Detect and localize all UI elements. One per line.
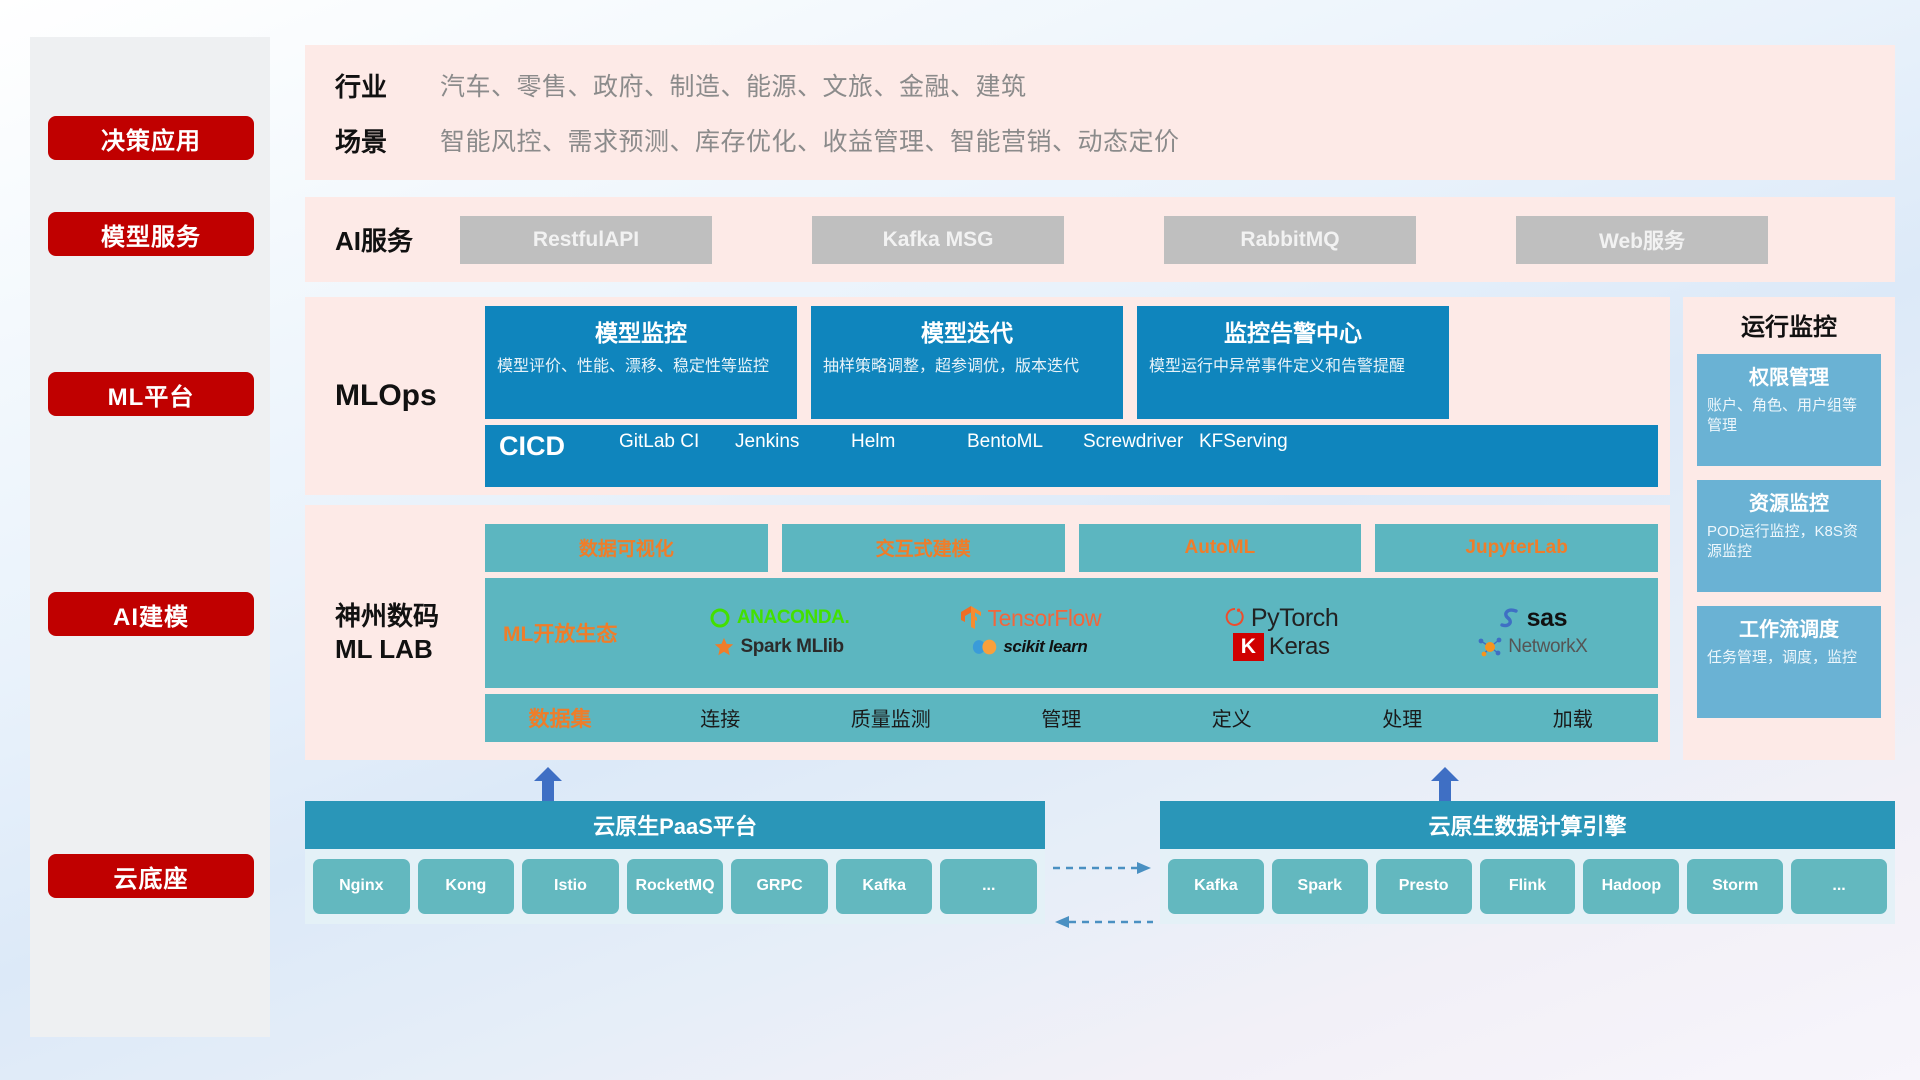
spark-mllib-logo-text: Spark MLlib <box>740 636 843 658</box>
sas-logo-text: sas <box>1527 604 1568 633</box>
cloud-native-data-engine-group: 云原生数据计算引擎 Kafka Spark Presto Flink Hadoo… <box>1160 801 1895 924</box>
layer-chip-label: 云底座 <box>114 859 189 894</box>
card-title: 监控告警中心 <box>1149 314 1437 348</box>
layer-chip-decision-apps[interactable]: 决策应用 <box>48 116 254 160</box>
data-chip-kafka[interactable]: Kafka <box>1168 859 1264 914</box>
dataset-item-processing[interactable]: 处理 <box>1317 703 1488 732</box>
cloud-base-section: 云原生PaaS平台 Nginx Kong Istio RocketMQ GRPC… <box>305 775 1895 935</box>
dataset-row: 数据集 连接 质量监测 管理 定义 处理 加载 <box>485 694 1658 742</box>
ai-service-band: AI服务 RestfulAPI Kafka MSG RabbitMQ Web服务 <box>305 197 1895 282</box>
layer-chip-label: ML平台 <box>108 377 195 412</box>
dataset-label: 数据集 <box>485 703 635 733</box>
layer-chip-label: AI建模 <box>113 597 189 632</box>
mlops-card-model-iteration[interactable]: 模型迭代 抽样策略调整，超参调优，版本迭代 <box>811 306 1123 419</box>
paas-chip-kong[interactable]: Kong <box>418 859 515 914</box>
service-box-rabbitmq[interactable]: RabbitMQ <box>1164 216 1416 264</box>
layer-chip-label: 模型服务 <box>101 217 201 252</box>
paas-chip-rocketmq[interactable]: RocketMQ <box>627 859 724 914</box>
card-desc: 抽样策略调整，超参调优，版本迭代 <box>823 356 1111 377</box>
dataset-item-connect[interactable]: 连接 <box>635 703 806 732</box>
lab-tab-automl[interactable]: AutoML <box>1079 524 1362 572</box>
scenario-label: 场景 <box>335 122 440 159</box>
runtime-monitoring-title: 运行监控 <box>1697 307 1881 342</box>
decision-apps-band: 行业 汽车、零售、政府、制造、能源、文旅、金融、建筑 场景 智能风控、需求预测、… <box>305 45 1895 180</box>
scikit-learn-logo: scikit learn <box>972 635 1087 659</box>
data-chip-hadoop[interactable]: Hadoop <box>1583 859 1679 914</box>
networkx-logo-text: NetworkX <box>1508 636 1587 658</box>
scenario-row: 场景 智能风控、需求预测、库存优化、收益管理、智能营销、动态定价 <box>335 122 1895 159</box>
layer-chip-cloud-base[interactable]: 云底座 <box>48 854 254 898</box>
ml-open-ecosystem-label: ML开放生态 <box>503 618 653 648</box>
industry-value: 汽车、零售、政府、制造、能源、文旅、金融、建筑 <box>440 67 1027 103</box>
dataset-item-quality-monitoring[interactable]: 质量监测 <box>806 703 977 732</box>
layer-chip-model-service[interactable]: 模型服务 <box>48 212 254 256</box>
pytorch-logo: PyTorch <box>1224 604 1339 633</box>
ml-lab-label: 神州数码 ML LAB <box>335 600 485 665</box>
cloud-native-data-engine-title: 云原生数据计算引擎 <box>1160 801 1895 849</box>
ml-open-ecosystem-row: ML开放生态 ANACONDA. <box>485 578 1658 688</box>
mlops-band: MLOps 模型监控 模型评价、性能、漂移、稳定性等监控 模型迭代 抽样策略调整… <box>305 297 1670 495</box>
card-title: 模型迭代 <box>823 314 1111 348</box>
data-chip-presto[interactable]: Presto <box>1376 859 1472 914</box>
keras-logo-text: Keras <box>1269 633 1330 661</box>
layer-chip-label: 决策应用 <box>101 121 201 156</box>
pytorch-logo-text: PyTorch <box>1251 604 1339 633</box>
mlops-label: MLOps <box>335 379 485 413</box>
service-box-restfulapi[interactable]: RestfulAPI <box>460 216 712 264</box>
mlops-card-model-monitoring[interactable]: 模型监控 模型评价、性能、漂移、稳定性等监控 <box>485 306 797 419</box>
networkx-logo: NetworkX <box>1477 635 1587 659</box>
monitor-card-permission-management[interactable]: 权限管理 账户、角色、用户组等管理 <box>1697 354 1881 466</box>
card-desc: 任务管理，调度，监控 <box>1707 648 1871 668</box>
industry-label: 行业 <box>335 67 440 104</box>
card-desc: 模型评价、性能、漂移、稳定性等监控 <box>497 356 785 377</box>
lab-tab-data-visualization[interactable]: 数据可视化 <box>485 524 768 572</box>
scenario-value: 智能风控、需求预测、库存优化、收益管理、智能营销、动态定价 <box>440 122 1180 158</box>
industry-row: 行业 汽车、零售、政府、制造、能源、文旅、金融、建筑 <box>335 67 1895 104</box>
lab-tab-interactive-modeling[interactable]: 交互式建模 <box>782 524 1065 572</box>
cicd-item-kfserving[interactable]: KFServing <box>1199 431 1315 453</box>
architecture-diagram: 决策应用 模型服务 ML平台 AI建模 云底座 行业 汽车、零售、政府、制造、能… <box>0 0 1920 1080</box>
runtime-monitoring-panel: 运行监控 权限管理 账户、角色、用户组等管理 资源监控 POD运行监控，K8S资… <box>1683 297 1895 760</box>
cicd-item-jenkins[interactable]: Jenkins <box>735 431 851 453</box>
dashed-arrow-right-icon <box>1053 861 1153 880</box>
dataset-item-loading[interactable]: 加载 <box>1488 703 1659 732</box>
paas-chip-more[interactable]: ... <box>940 859 1037 914</box>
card-desc: 账户、角色、用户组等管理 <box>1707 396 1871 437</box>
data-chip-spark[interactable]: Spark <box>1272 859 1368 914</box>
ai-service-label: AI服务 <box>335 221 460 258</box>
layer-chip-ai-modeling[interactable]: AI建模 <box>48 592 254 636</box>
cicd-item-screwdriver[interactable]: Screwdriver <box>1083 431 1199 453</box>
anaconda-logo-text: ANACONDA. <box>737 607 850 629</box>
cicd-item-gitlab-ci[interactable]: GitLab CI <box>619 431 735 453</box>
card-title: 权限管理 <box>1707 361 1871 390</box>
service-box-kafka-msg[interactable]: Kafka MSG <box>812 216 1064 264</box>
ml-lab-label-line2: ML LAB <box>335 633 485 666</box>
dashed-arrow-left-icon <box>1053 915 1153 934</box>
paas-chip-kafka[interactable]: Kafka <box>836 859 933 914</box>
cicd-bar: CICD GitLab CI Jenkins Helm BentoML Scre… <box>485 425 1658 487</box>
cicd-label: CICD <box>499 431 619 462</box>
data-chip-more[interactable]: ... <box>1791 859 1887 914</box>
dataset-item-management[interactable]: 管理 <box>976 703 1147 732</box>
dataset-item-definition[interactable]: 定义 <box>1147 703 1318 732</box>
up-arrow-paas-icon <box>533 767 563 801</box>
scikit-learn-logo-text: scikit learn <box>1003 637 1087 657</box>
card-desc: 模型运行中异常事件定义和告警提醒 <box>1149 356 1437 377</box>
monitor-card-workflow-scheduling[interactable]: 工作流调度 任务管理，调度，监控 <box>1697 606 1881 718</box>
ml-lab-label-line1: 神州数码 <box>335 600 485 633</box>
monitor-card-resource-monitoring[interactable]: 资源监控 POD运行监控，K8S资源监控 <box>1697 480 1881 592</box>
keras-logo: K Keras <box>1233 633 1330 661</box>
service-box-web-service[interactable]: Web服务 <box>1516 216 1768 264</box>
cloud-native-paas-title: 云原生PaaS平台 <box>305 801 1045 849</box>
tensorflow-logo: TensorFlow <box>959 605 1102 632</box>
keras-logo-mark: K <box>1233 633 1264 661</box>
anaconda-logo: ANACONDA. <box>708 606 850 630</box>
cicd-item-bentoml[interactable]: BentoML <box>967 431 1083 453</box>
lab-tab-jupyterlab[interactable]: JupyterLab <box>1375 524 1658 572</box>
ai-modeling-band: 神州数码 ML LAB 数据可视化 交互式建模 AutoML JupyterLa… <box>305 505 1670 760</box>
cicd-item-helm[interactable]: Helm <box>851 431 967 453</box>
card-title: 资源监控 <box>1707 487 1871 516</box>
card-title: 工作流调度 <box>1707 613 1871 642</box>
cloud-native-paas-group: 云原生PaaS平台 Nginx Kong Istio RocketMQ GRPC… <box>305 801 1045 924</box>
tensorflow-logo-text: TensorFlow <box>988 605 1102 632</box>
data-chip-flink[interactable]: Flink <box>1480 859 1576 914</box>
sas-logo: sas <box>1498 604 1568 633</box>
card-desc: POD运行监控，K8S资源监控 <box>1707 522 1871 563</box>
data-chip-storm[interactable]: Storm <box>1687 859 1783 914</box>
paas-chip-nginx[interactable]: Nginx <box>313 859 410 914</box>
mlops-card-alert-center[interactable]: 监控告警中心 模型运行中异常事件定义和告警提醒 <box>1137 306 1449 419</box>
up-arrow-data-engine-icon <box>1430 767 1460 801</box>
card-title: 模型监控 <box>497 314 785 348</box>
layer-rail: 决策应用 模型服务 ML平台 AI建模 云底座 <box>30 37 270 1037</box>
paas-chip-grpc[interactable]: GRPC <box>731 859 828 914</box>
paas-chip-istio[interactable]: Istio <box>522 859 619 914</box>
spark-mllib-logo: Spark MLlib <box>713 636 843 658</box>
layer-chip-ml-platform[interactable]: ML平台 <box>48 372 254 416</box>
